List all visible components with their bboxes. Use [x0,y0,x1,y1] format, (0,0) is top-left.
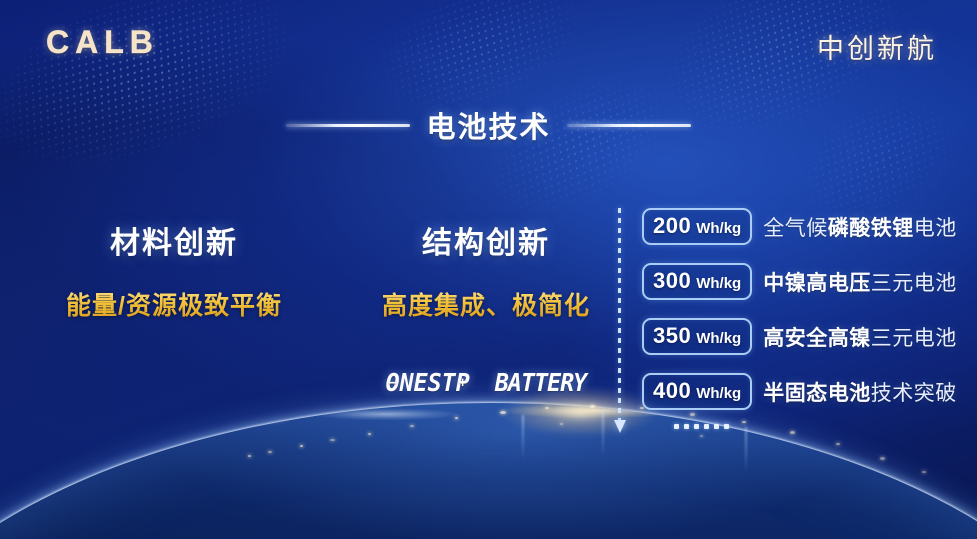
column-subtitle-material: 能量/资源极致平衡 [24,286,324,322]
energy-density-badge: 200 Wh/kg [642,208,752,245]
roadmap-label: 中镍高电压三元电池 [763,267,957,297]
energy-density-badge: 350 Wh/kg [642,318,752,355]
title-rule-right [567,124,691,127]
roadmap-row: 350 Wh/kg 高安全高镍三元电池 [642,318,957,355]
roadmap-arrow-down-icon [614,420,626,433]
slide-canvas: CALB 中创新航 电池技术 材料创新 能量/资源极致平衡 结构创新 高度集成、… [0,0,977,539]
roadmap-row: 400 Wh/kg 半固态电池技术突破 [642,373,957,410]
calb-logo: CALB [46,24,159,61]
roadmap-label: 全气候磷酸铁锂电池 [763,212,957,242]
brand-name-chinese: 中创新航 [817,27,937,66]
roadmap-continuation-dots [674,424,729,429]
column-heading-structure: 结构创新 [336,218,636,262]
column-material-innovation: 材料创新 能量/资源极致平衡 [24,218,324,322]
roadmap-row: 300 Wh/kg 中镍高电压三元电池 [642,263,957,300]
title-rule-left [286,124,410,127]
roadmap-row: 200 Wh/kg 全气候磷酸铁锂电池 [642,208,957,245]
energy-density-roadmap: 200 Wh/kg 全气候磷酸铁锂电池 300 Wh/kg 中镍高电压三元电池 … [618,196,977,446]
column-heading-material: 材料创新 [24,218,324,262]
section-title-text: 电池技术 [426,104,550,146]
roadmap-label: 半固态电池技术突破 [763,377,957,407]
letter-p-with-plus-icon: P+ [456,368,470,397]
energy-density-badge: 300 Wh/kg [642,263,752,300]
roadmap-label: 高安全高镍三元电池 [763,322,957,352]
column-structural-innovation: 结构创新 高度集成、极简化 [336,218,636,322]
energy-density-badge: 400 Wh/kg [642,373,752,410]
roadmap-dotted-line [618,208,621,422]
onestop-wordmark: O–NESTP+ [386,368,484,397]
letter-o-with-minus-icon: O– [386,368,400,397]
battery-wordmark: BATTERY [495,368,586,397]
section-title: 电池技术 [0,104,977,146]
column-subtitle-structure: 高度集成、极简化 [336,286,636,322]
onestop-battery-logo: O–NESTP+ BATTERY [347,368,626,397]
